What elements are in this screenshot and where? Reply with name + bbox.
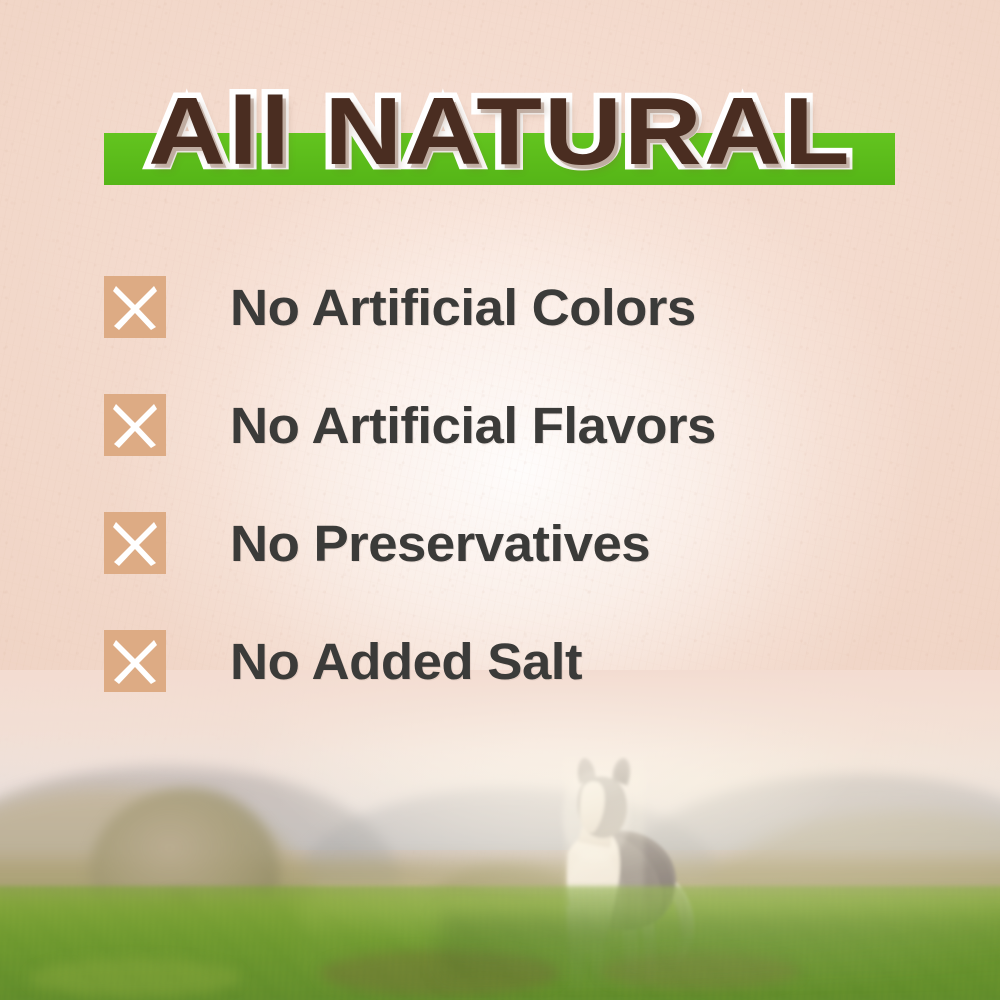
list-item: No Preservatives bbox=[104, 484, 924, 602]
grass-shadow bbox=[440, 916, 1000, 978]
list-item-label: No Added Salt bbox=[230, 636, 582, 687]
list-item: No Added Salt bbox=[104, 602, 924, 720]
list-item: No Artificial Colors bbox=[104, 248, 924, 366]
list-item: No Artificial Flavors bbox=[104, 366, 924, 484]
page-title: All NATURAL bbox=[0, 78, 1000, 186]
x-mark-icon bbox=[104, 394, 166, 456]
claim-list: No Artificial Colors No Artificial Flavo… bbox=[104, 248, 924, 720]
list-item-label: No Artificial Colors bbox=[230, 282, 696, 333]
x-mark-icon bbox=[104, 276, 166, 338]
list-item-label: No Preservatives bbox=[230, 518, 650, 569]
grass-patch-3 bbox=[30, 958, 240, 998]
headline-block: All NATURAL bbox=[0, 78, 1000, 196]
x-mark-icon bbox=[104, 512, 166, 574]
list-item-label: No Artificial Flavors bbox=[230, 400, 716, 451]
x-mark-icon bbox=[104, 630, 166, 692]
product-claim-graphic: All NATURAL No Artificial Colors No Arti… bbox=[0, 0, 1000, 1000]
